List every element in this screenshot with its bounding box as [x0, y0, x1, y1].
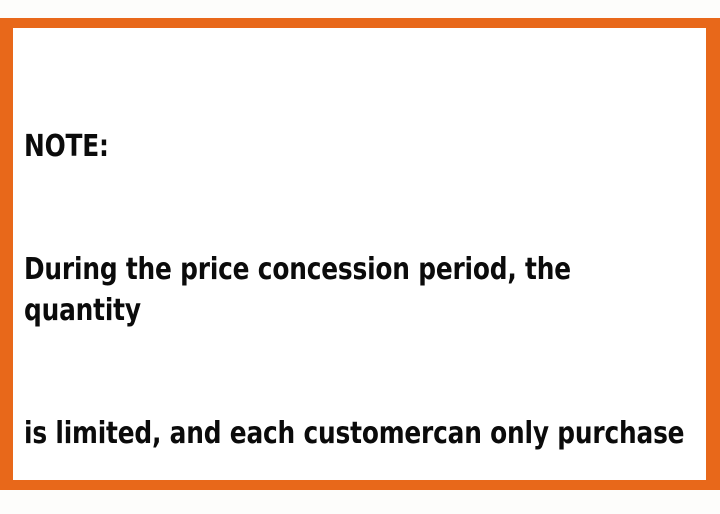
notice-white-panel: NOTE: During the price concession period…	[13, 28, 706, 480]
notice-headline-block: NOTE: During the price concession period…	[24, 44, 693, 480]
headline-line-1: NOTE:	[24, 126, 693, 167]
notice-orange-frame: NOTE: During the price concession period…	[0, 18, 720, 490]
headline-line-2: During the price concession period, the …	[24, 249, 693, 331]
headline-line-3: is limited, and each customercan only pu…	[24, 413, 693, 454]
